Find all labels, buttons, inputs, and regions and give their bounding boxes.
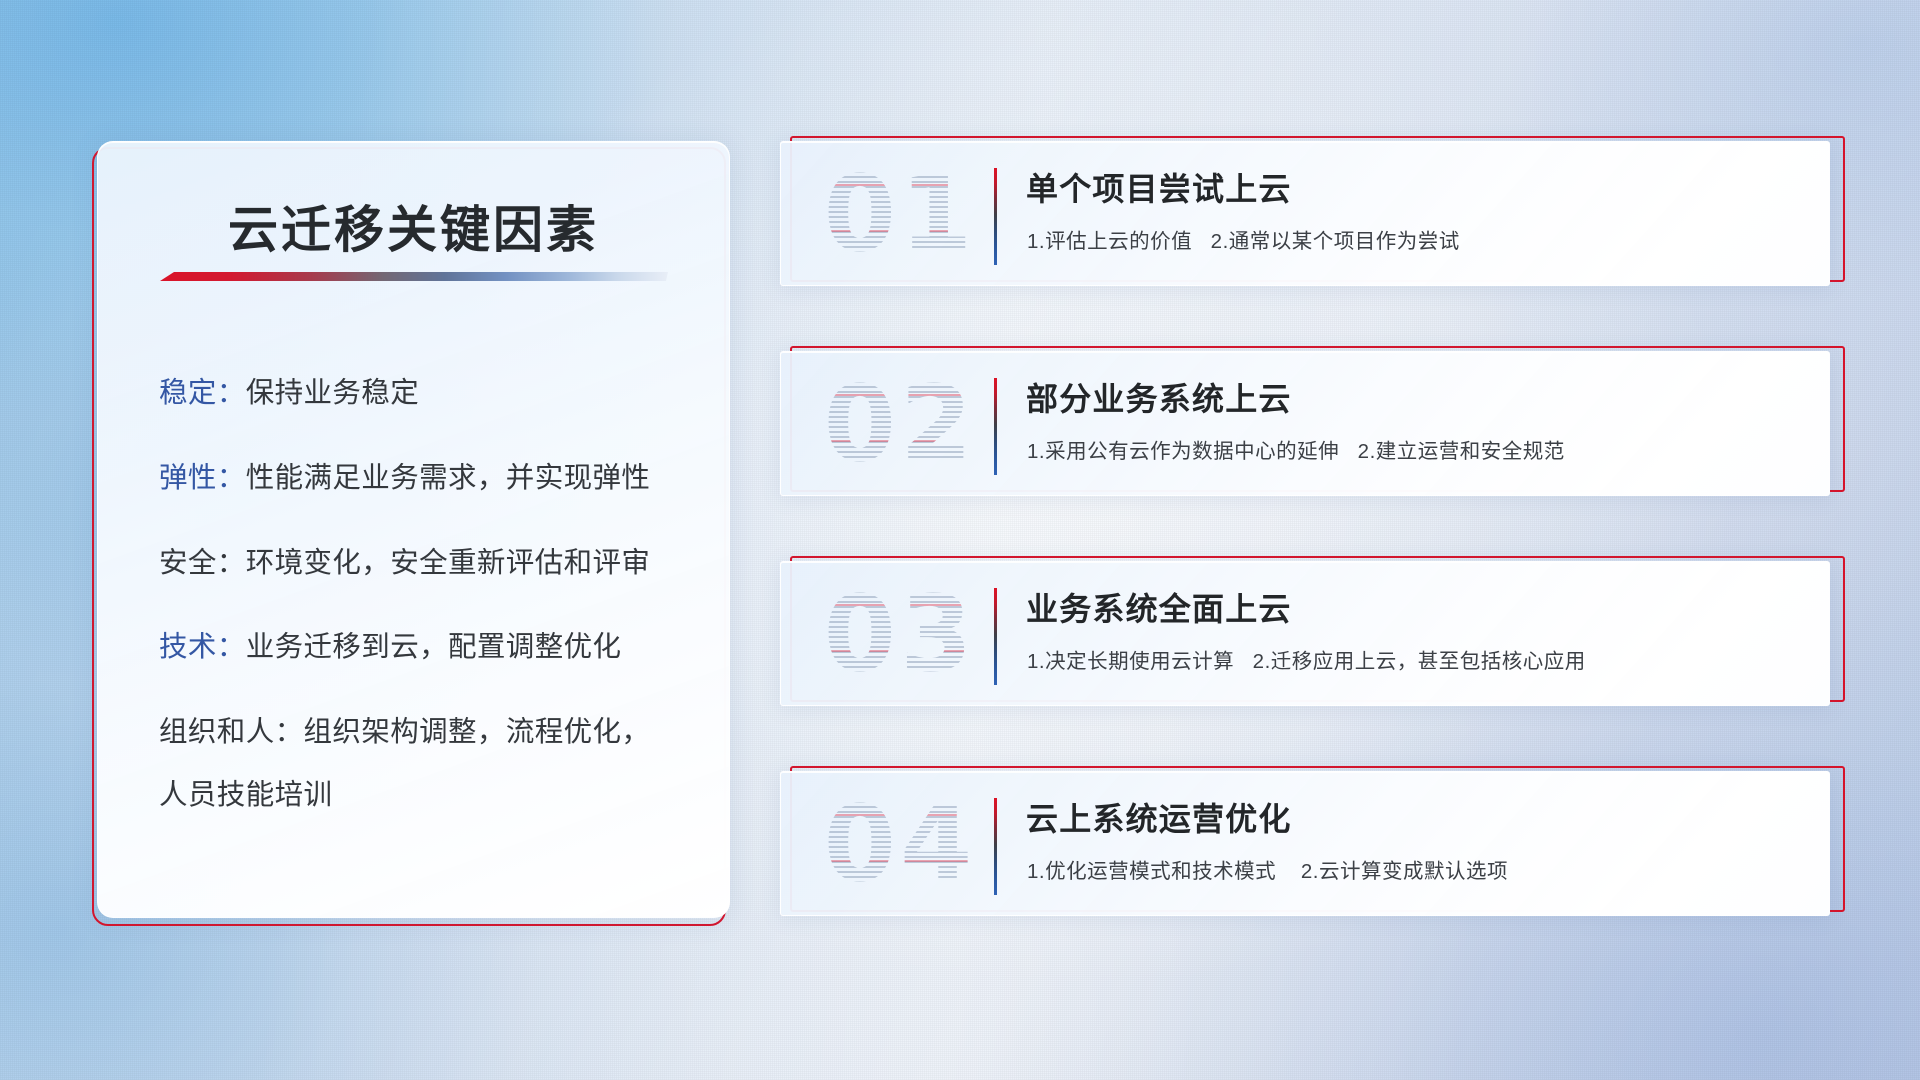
stage-detail: 1.优化运营模式和技术模式 2.云计算变成默认选项 <box>1027 854 1508 884</box>
stage-card-body: 0101单个项目尝试上云1.评估上云的价值 2.通常以某个项目作为尝试 <box>780 141 1830 286</box>
migration-stage-card[interactable]: 0101单个项目尝试上云1.评估上云的价值 2.通常以某个项目作为尝试 <box>780 136 1840 288</box>
migration-stage-card[interactable]: 0404云上系统运营优化1.优化运营模式和技术模式 2.云计算变成默认选项 <box>780 766 1840 918</box>
stage-number-ghost-red-scanlines: 02 <box>795 360 1005 488</box>
key-factor-item: 安全：环境变化，安全重新评估和评审 <box>159 542 703 585</box>
migration-stage-card[interactable]: 0303业务系统全面上云1.决定长期使用云计算 2.迁移应用上云，甚至包括核心应… <box>780 556 1840 708</box>
stage-detail: 1.决定长期使用云计算 2.迁移应用上云，甚至包括核心应用 <box>1027 644 1586 674</box>
stage-number-ghost-red-scanlines: 04 <box>795 780 1005 908</box>
stage-divider-bar <box>994 588 997 685</box>
key-factor-label: 稳定： <box>159 377 246 409</box>
key-factor-text: 保持业务稳定 <box>246 377 419 409</box>
stage-heading: 部分业务系统上云 <box>1026 374 1292 420</box>
stage-divider-bar <box>994 168 997 265</box>
stage-card-body: 0303业务系统全面上云1.决定长期使用云计算 2.迁移应用上云，甚至包括核心应… <box>780 561 1830 706</box>
migration-stages-list: 0101单个项目尝试上云1.评估上云的价值 2.通常以某个项目作为尝试0202部… <box>780 136 1840 918</box>
stage-card-body: 0404云上系统运营优化1.优化运营模式和技术模式 2.云计算变成默认选项 <box>780 771 1830 916</box>
stage-detail: 1.评估上云的价值 2.通常以某个项目作为尝试 <box>1027 224 1460 254</box>
key-factor-item: 技术：业务迁移到云，配置调整优化 <box>159 626 703 669</box>
key-factor-text: 业务迁移到云，配置调整优化 <box>246 631 622 663</box>
stage-card-body: 0202部分业务系统上云1.采用公有云作为数据中心的延伸 2.建立运营和安全规范 <box>780 351 1830 496</box>
key-factor-text: 组织架构调整，流程优化， <box>304 716 651 748</box>
key-factor-text: 环境变化，安全重新评估和评审 <box>246 547 651 579</box>
key-factor-label: 技术： <box>159 631 246 663</box>
key-factor-label: 安全： <box>159 547 246 579</box>
key-factor-label: 弹性： <box>159 462 246 494</box>
key-factors-panel: 云迁移关键因素 稳定：保持业务稳定弹性：性能满足业务需求，并实现弹性安全：环境变… <box>92 141 730 926</box>
left-panel-body: 云迁移关键因素 稳定：保持业务稳定弹性：性能满足业务需求，并实现弹性安全：环境变… <box>97 141 730 918</box>
key-factor-item: 人员技能培训 <box>159 774 703 817</box>
page-title: 云迁移关键因素 <box>98 190 729 262</box>
key-factor-label: 组织和人： <box>159 716 304 748</box>
title-underline-gradient-bar <box>160 272 668 281</box>
stage-divider-bar <box>994 378 997 475</box>
stage-heading: 业务系统全面上云 <box>1026 584 1292 630</box>
stage-number-ghost-red-scanlines: 01 <box>795 150 1005 278</box>
stage-heading: 云上系统运营优化 <box>1026 794 1292 840</box>
key-factor-text: 人员技能培训 <box>159 779 332 811</box>
key-factors-list: 稳定：保持业务稳定弹性：性能满足业务需求，并实现弹性安全：环境变化，安全重新评估… <box>159 372 703 817</box>
stage-divider-bar <box>994 798 997 895</box>
stage-heading: 单个项目尝试上云 <box>1026 164 1292 210</box>
key-factor-item: 组织和人：组织架构调整，流程优化， <box>159 711 703 754</box>
key-factor-item: 弹性：性能满足业务需求，并实现弹性 <box>159 457 703 500</box>
stage-detail: 1.采用公有云作为数据中心的延伸 2.建立运营和安全规范 <box>1027 434 1565 464</box>
stage-number-ghost-red-scanlines: 03 <box>795 570 1005 698</box>
migration-stage-card[interactable]: 0202部分业务系统上云1.采用公有云作为数据中心的延伸 2.建立运营和安全规范 <box>780 346 1840 498</box>
key-factor-item: 稳定：保持业务稳定 <box>159 372 703 415</box>
key-factor-text: 性能满足业务需求，并实现弹性 <box>246 462 651 494</box>
slide-stage: 云迁移关键因素 稳定：保持业务稳定弹性：性能满足业务需求，并实现弹性安全：环境变… <box>0 0 1920 1080</box>
